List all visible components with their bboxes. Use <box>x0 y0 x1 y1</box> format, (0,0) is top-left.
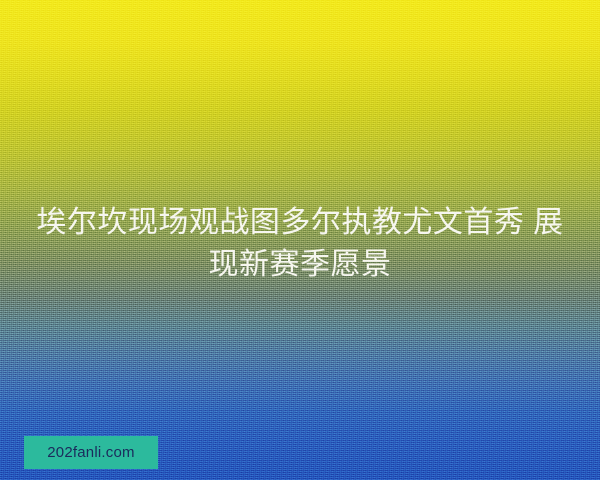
poster-image: 埃尔坎现场观战图多尔执教尤文首秀 展现新赛季愿景 202fanli.com <box>0 0 600 480</box>
poster-headline: 埃尔坎现场观战图多尔执教尤文首秀 展现新赛季愿景 <box>0 202 600 286</box>
watermark-label: 202fanli.com <box>47 445 134 460</box>
watermark-badge: 202fanli.com <box>24 436 158 469</box>
